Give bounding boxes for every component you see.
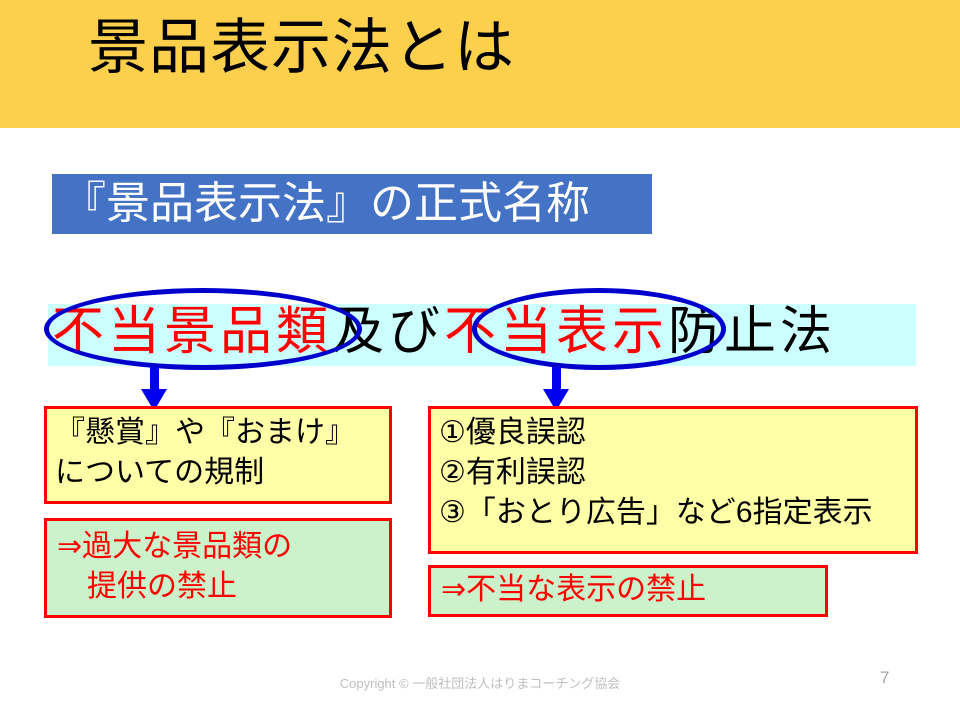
- annotation-ellipse-keihinrui: [44, 288, 362, 370]
- annotation-ellipse-hyoji: [472, 288, 726, 370]
- arrow-shaft: [150, 367, 159, 391]
- left-conclusion-box-text: ⇒過大な景品類の 提供の禁止: [57, 527, 292, 607]
- section-heading-label: 『景品表示法』の正式名称: [62, 176, 590, 232]
- title-banner: 景品表示法とは: [0, 0, 960, 128]
- page-title: 景品表示法とは: [88, 16, 515, 79]
- left-detail-box-text: 『懸賞』や『おまけ』 についての規制: [55, 413, 355, 493]
- right-detail-box: ①優良誤認 ②有利誤認 ③「おとり広告」など6指定表示: [428, 406, 918, 554]
- right-conclusion-box-text: ⇒不当な表示の禁止: [441, 570, 706, 610]
- page-number: 7: [880, 668, 920, 688]
- left-detail-box: 『懸賞』や『おまけ』 についての規制: [44, 406, 392, 504]
- down-arrow-icon-right: [543, 367, 569, 411]
- footer-copyright: Copyright © 一般社団法人はりまコーチング協会: [0, 673, 960, 692]
- right-conclusion-box: ⇒不当な表示の禁止: [428, 565, 828, 617]
- section-heading-bar: 『景品表示法』の正式名称: [52, 174, 652, 234]
- right-detail-box-text: ①優良誤認 ②有利誤認 ③「おとり広告」など6指定表示: [439, 413, 873, 533]
- arrow-shaft: [552, 367, 561, 391]
- down-arrow-icon-left: [141, 367, 167, 411]
- left-conclusion-box: ⇒過大な景品類の 提供の禁止: [44, 518, 392, 618]
- slide-canvas: 景品表示法とは 『景品表示法』の正式名称 不当景品類及び不当表示防止法 『懸賞』…: [0, 0, 960, 720]
